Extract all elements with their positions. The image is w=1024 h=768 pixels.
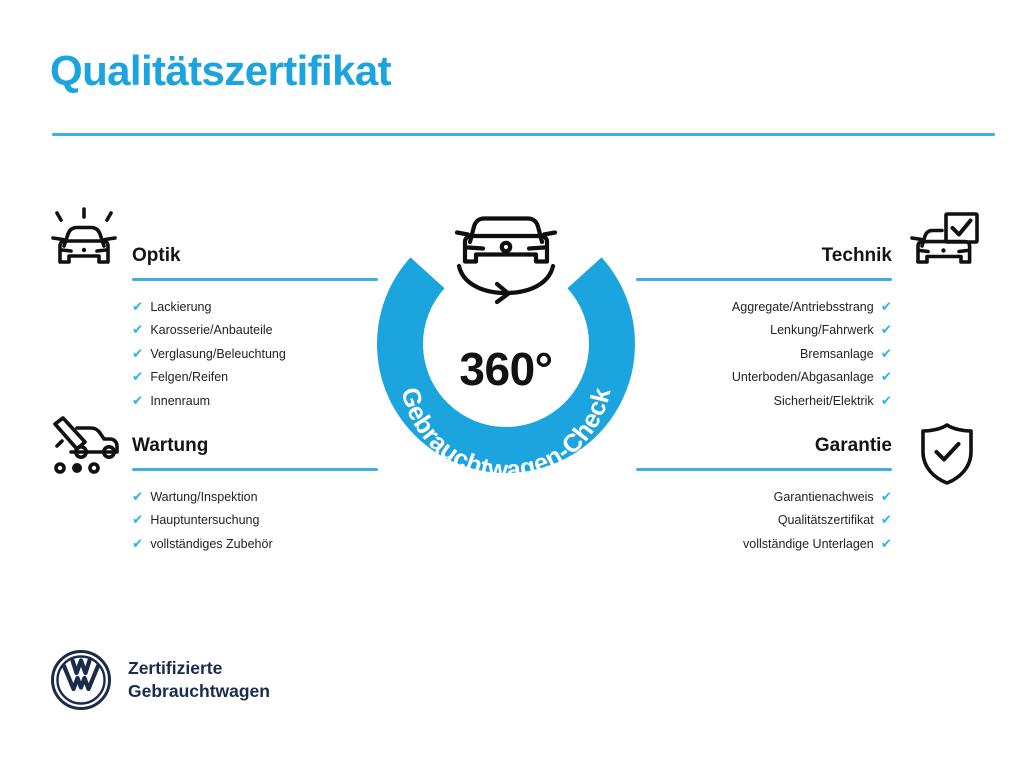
check-icon: ✔	[132, 323, 143, 337]
section-heading-technik: Technik	[636, 243, 892, 277]
section-heading-garantie: Garantie	[636, 433, 892, 467]
section-underline	[132, 468, 378, 471]
checklist-item-label: Unterboden/Abgasanlage	[732, 366, 874, 389]
checklist-item: Bremsanlage✔	[636, 343, 892, 366]
shield-check-icon	[918, 422, 976, 486]
section-title: Optik	[132, 243, 378, 269]
checklist: ✔Lackierung✔Karosserie/Anbauteile✔Vergla…	[132, 296, 378, 413]
checklist-item: Aggregate/Antriebsstrang✔	[636, 296, 892, 319]
checklist-item-label: Lackierung	[150, 296, 211, 319]
check-icon: ✔	[881, 513, 892, 527]
checklist-item-label: Qualitätszertifikat	[778, 509, 874, 532]
checklist: ✔Wartung/Inspektion✔Hauptuntersuchung✔vo…	[132, 486, 378, 556]
check-icon: ✔	[881, 394, 892, 408]
section-technik: TechnikAggregate/Antriebsstrang✔Lenkung/…	[636, 243, 892, 413]
checklist-item: ✔Felgen/Reifen	[132, 366, 378, 389]
vw-certified-footer: Zertifizierte Gebrauchtwagen	[50, 649, 270, 711]
check-icon: ✔	[132, 394, 143, 408]
section-title: Garantie	[636, 433, 892, 459]
vw-footer-line1: Zertifizierte	[128, 657, 270, 680]
check-icon: ✔	[881, 300, 892, 314]
car-shine-icon	[47, 206, 121, 276]
section-garantie: GarantieGarantienachweis✔Qualitätszertif…	[636, 433, 892, 556]
check-icon: ✔	[881, 490, 892, 504]
certificate-page: Qualitätszertifikat	[0, 0, 1024, 768]
check-icon: ✔	[881, 323, 892, 337]
checklist-item: vollständige Unterlagen✔	[636, 533, 892, 556]
checklist-item-label: Verglasung/Beleuchtung	[150, 343, 286, 366]
section-title: Wartung	[132, 433, 378, 459]
section-heading-optik: Optik	[132, 243, 378, 277]
check-icon: ✔	[881, 537, 892, 551]
vw-footer-text: Zertifizierte Gebrauchtwagen	[128, 657, 270, 703]
checklist-item: ✔Hauptuntersuchung	[132, 509, 378, 532]
checklist-item: ✔vollständiges Zubehör	[132, 533, 378, 556]
badge-center-label: 360°	[377, 346, 635, 392]
section-underline	[132, 278, 378, 281]
checklist-item: ✔Wartung/Inspektion	[132, 486, 378, 509]
section-wartung: Wartung✔Wartung/Inspektion✔Hauptuntersuc…	[132, 433, 378, 556]
checklist-item-label: Garantienachweis	[774, 486, 874, 509]
checklist-item-label: Bremsanlage	[800, 343, 874, 366]
page-title: Qualitätszertifikat	[50, 50, 391, 92]
checklist-item-label: vollständige Unterlagen	[743, 533, 874, 556]
car-checkbox-icon	[908, 212, 980, 276]
badge-360-check: Gebrauchtwagen-Check 360°	[377, 202, 635, 494]
section-title: Technik	[636, 243, 892, 269]
check-icon: ✔	[132, 370, 143, 384]
vw-footer-line2: Gebrauchtwagen	[128, 680, 270, 703]
checklist-item-label: Felgen/Reifen	[150, 366, 228, 389]
check-icon: ✔	[132, 300, 143, 314]
checklist-item-label: Karosserie/Anbauteile	[150, 319, 272, 342]
checklist-item: ✔Lackierung	[132, 296, 378, 319]
checklist-item: Qualitätszertifikat✔	[636, 509, 892, 532]
check-icon: ✔	[132, 513, 143, 527]
checklist-item-label: vollständiges Zubehör	[150, 533, 272, 556]
car-service-pen-icon	[47, 416, 121, 478]
checklist-item: ✔Verglasung/Beleuchtung	[132, 343, 378, 366]
checklist-item-label: Lenkung/Fahrwerk	[770, 319, 874, 342]
check-icon: ✔	[132, 537, 143, 551]
checklist-item: ✔Innenraum	[132, 390, 378, 413]
check-icon: ✔	[132, 490, 143, 504]
vw-logo	[50, 649, 112, 711]
section-heading-wartung: Wartung	[132, 433, 378, 467]
checklist-item: Sicherheit/Elektrik✔	[636, 390, 892, 413]
checklist: Garantienachweis✔Qualitätszertifikat✔vol…	[636, 486, 892, 556]
car-rotate-icon	[457, 219, 555, 303]
checklist-item-label: Aggregate/Antriebsstrang	[732, 296, 874, 319]
header-divider	[52, 133, 995, 136]
section-underline	[636, 278, 892, 281]
checklist-item: Unterboden/Abgasanlage✔	[636, 366, 892, 389]
check-icon: ✔	[881, 347, 892, 361]
check-icon: ✔	[132, 347, 143, 361]
checklist-item: Lenkung/Fahrwerk✔	[636, 319, 892, 342]
checklist-item-label: Hauptuntersuchung	[150, 509, 259, 532]
checklist-item: Garantienachweis✔	[636, 486, 892, 509]
checklist-item-label: Innenraum	[150, 390, 210, 413]
checklist-item-label: Sicherheit/Elektrik	[774, 390, 874, 413]
check-icon: ✔	[881, 370, 892, 384]
checklist: Aggregate/Antriebsstrang✔Lenkung/Fahrwer…	[636, 296, 892, 413]
section-underline	[636, 468, 892, 471]
section-optik: Optik✔Lackierung✔Karosserie/Anbauteile✔V…	[132, 243, 378, 413]
checklist-item-label: Wartung/Inspektion	[150, 486, 257, 509]
checklist-item: ✔Karosserie/Anbauteile	[132, 319, 378, 342]
